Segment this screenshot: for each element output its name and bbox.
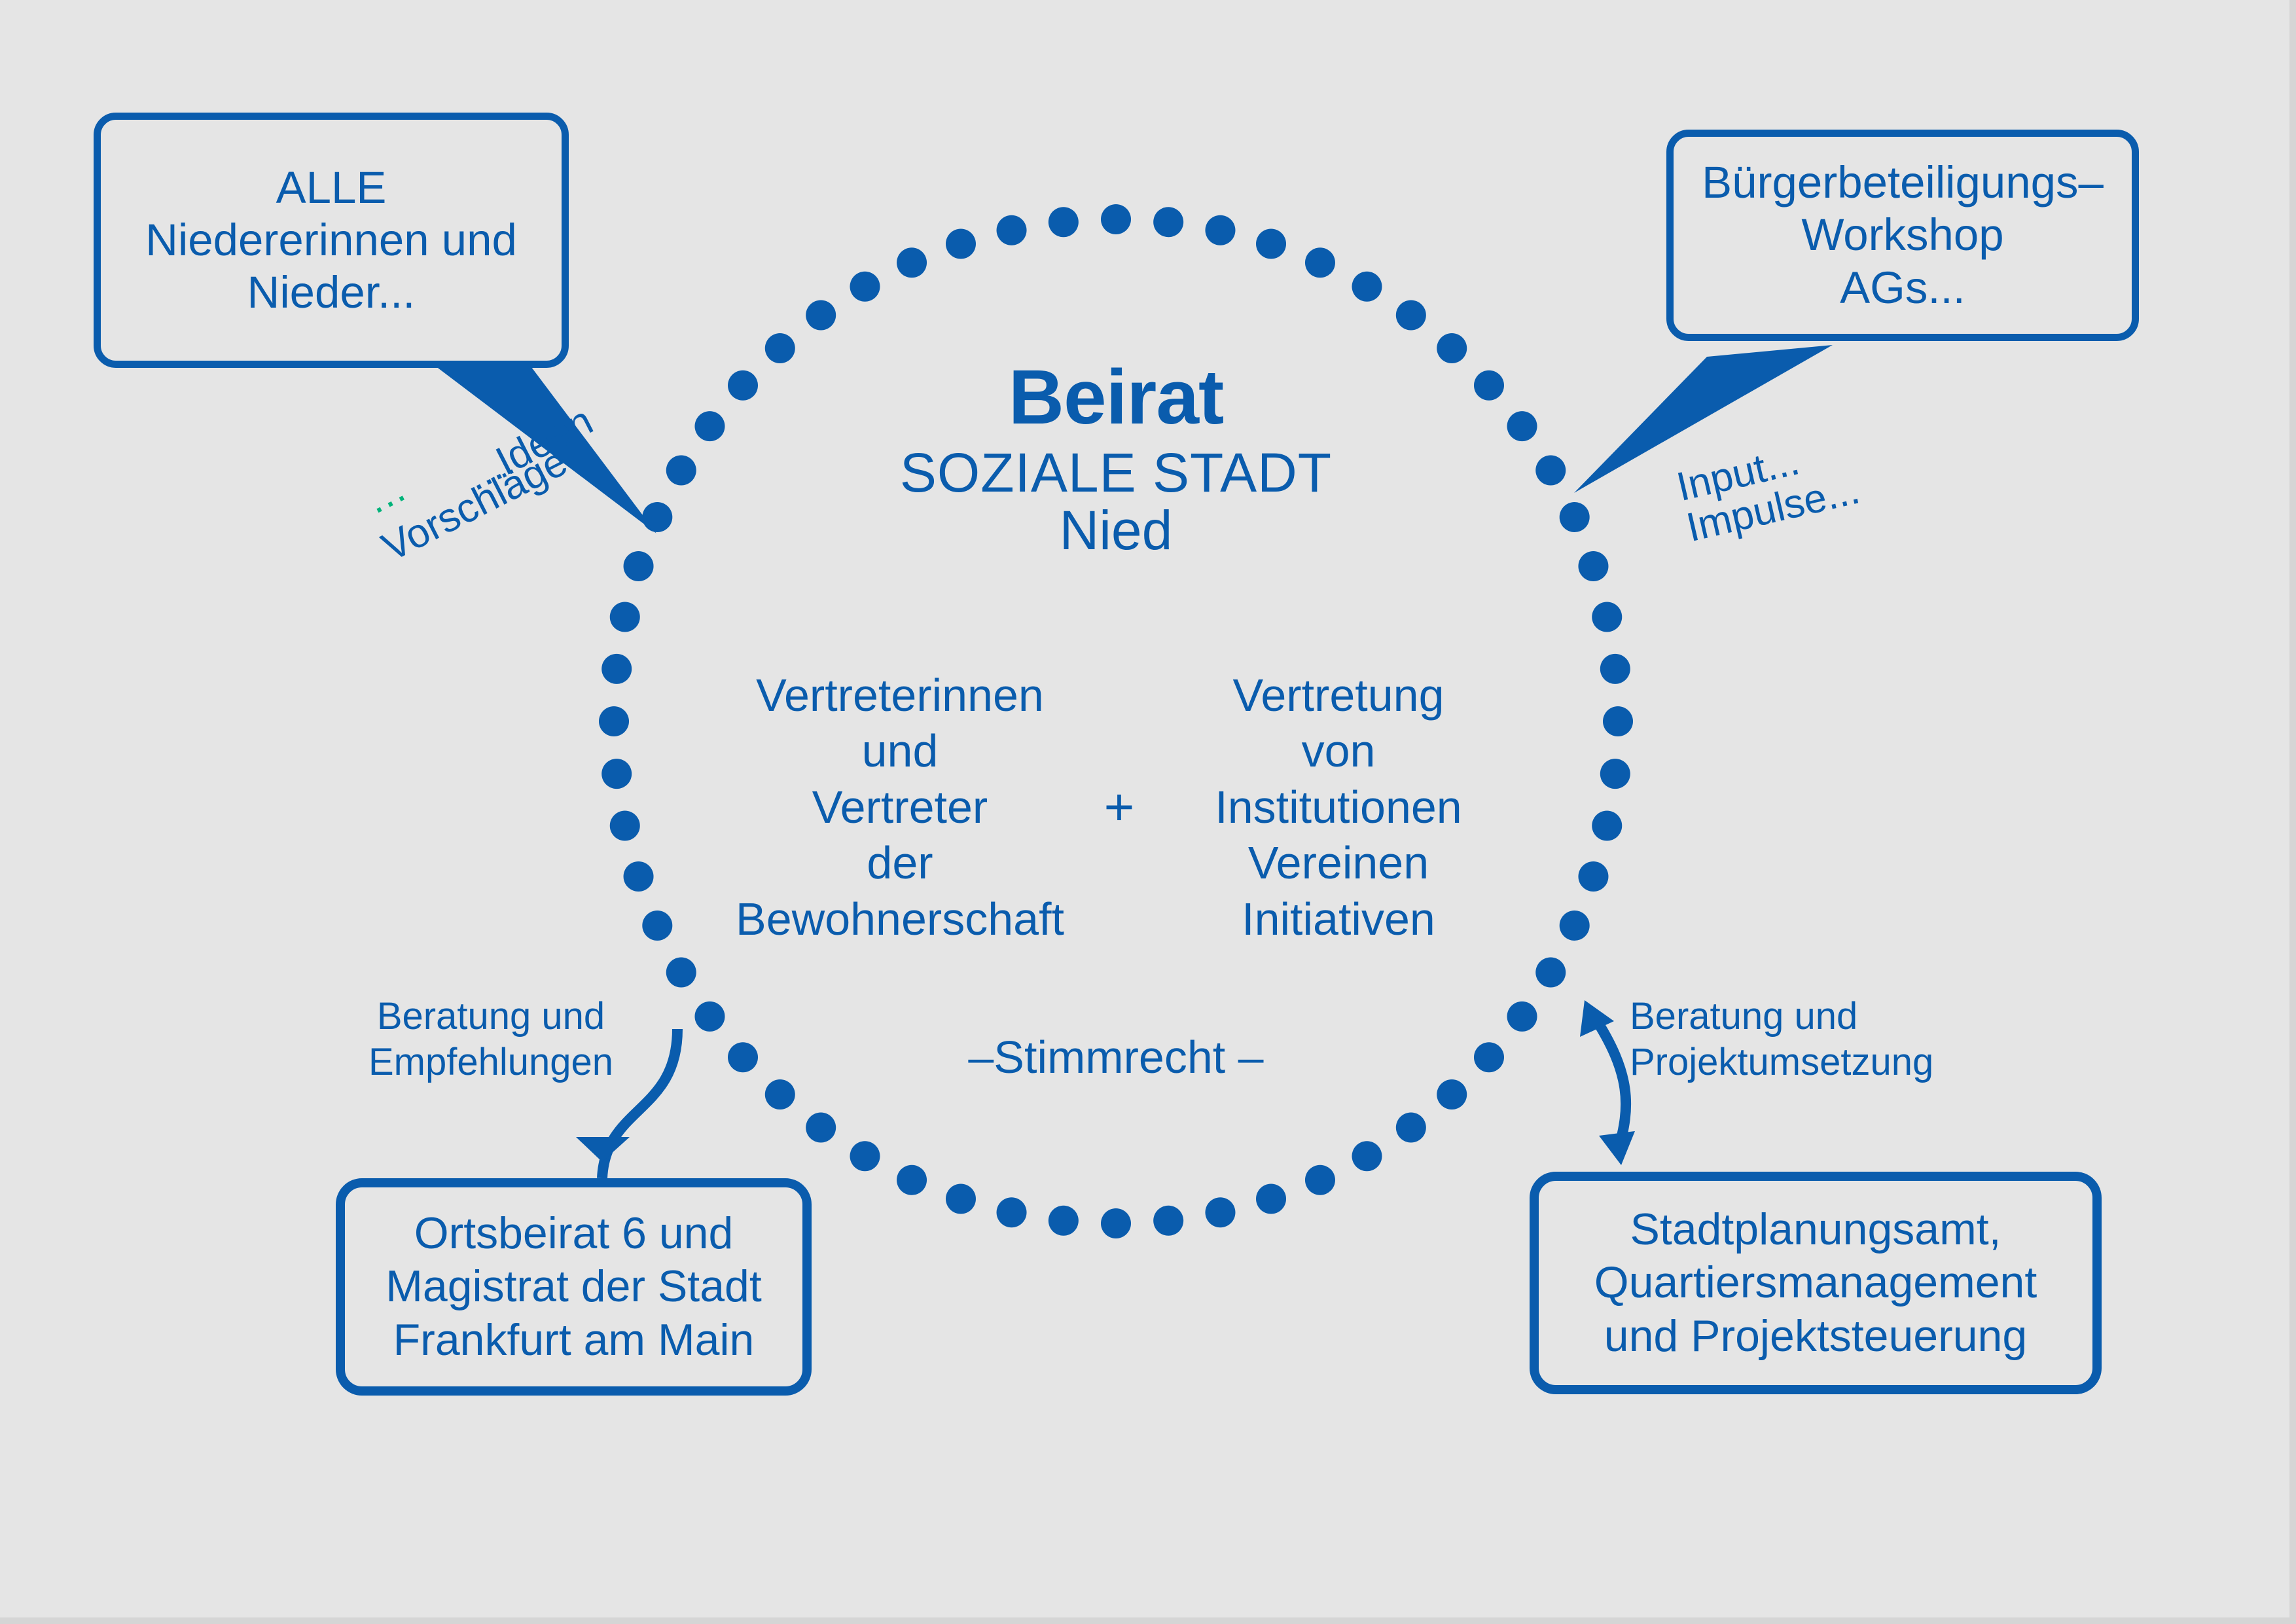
ring-dot bbox=[1153, 207, 1183, 237]
ring-dot bbox=[1437, 1079, 1467, 1110]
speech-bubble-participation-workshop-text: Bürgerbeteiligungs– Workshop AGs... bbox=[1702, 156, 2104, 314]
ring-dot bbox=[601, 654, 632, 684]
ring-dot bbox=[1153, 1206, 1183, 1236]
diagram-canvas: ALLE Niedererinnen und Nieder... Bürgerb… bbox=[0, 0, 2296, 1624]
arrow-right-head-down bbox=[1599, 1131, 1635, 1165]
council-subtitle: SOZIALE STADT bbox=[740, 445, 1492, 500]
box-stadtplanungsamt-text: Stadtplanungsamt, Quartiersmanagement un… bbox=[1594, 1203, 2037, 1363]
arrow-left-head bbox=[576, 1137, 630, 1162]
ring-dot bbox=[1535, 456, 1566, 486]
membership-institutions-line-4: Vereinen bbox=[1155, 835, 1522, 891]
speech-bubble-participation-workshop[interactable]: Bürgerbeteiligungs– Workshop AGs... bbox=[1666, 130, 2139, 341]
ring-dot bbox=[1101, 1208, 1131, 1238]
ring-dot bbox=[666, 958, 696, 988]
ring-dot bbox=[1600, 654, 1630, 684]
membership-institutions-line-5: Initiativen bbox=[1155, 892, 1522, 947]
ring-dot bbox=[1256, 229, 1286, 259]
ring-dot bbox=[946, 1183, 976, 1214]
ring-dot bbox=[1474, 1042, 1504, 1072]
label-beratung-empfehlungen: Beratung und Empfehlungen bbox=[353, 994, 628, 1085]
ring-dot bbox=[1396, 1113, 1426, 1143]
membership-columns: Vertreterinnen und Vertreter der Bewohne… bbox=[668, 668, 1571, 947]
ring-dot bbox=[1578, 551, 1608, 581]
ring-dot bbox=[624, 861, 654, 892]
ring-dot bbox=[624, 551, 654, 581]
ring-dot bbox=[1560, 502, 1590, 532]
membership-residents-line-5: Bewohnerschaft bbox=[717, 892, 1083, 947]
ring-dot bbox=[806, 1113, 836, 1143]
membership-residents-line-2: und bbox=[717, 723, 1083, 779]
ring-dot bbox=[1049, 1206, 1079, 1236]
ring-dot bbox=[1603, 706, 1633, 736]
ring-dot bbox=[1592, 602, 1622, 632]
box-ortsbeirat-magistrat-text: Ortsbeirat 6 und Magistrat der Stadt Fra… bbox=[386, 1207, 761, 1367]
box-ortsbeirat-magistrat[interactable]: Ortsbeirat 6 und Magistrat der Stadt Fra… bbox=[336, 1178, 812, 1396]
ring-dot bbox=[694, 1001, 725, 1032]
ring-dot bbox=[1101, 204, 1131, 234]
ring-dot bbox=[728, 1042, 758, 1072]
ring-dot bbox=[610, 810, 640, 840]
arrow-right-curve bbox=[1594, 1016, 1626, 1151]
council-location: Nied bbox=[740, 503, 1492, 558]
plus-icon: + bbox=[1083, 781, 1155, 833]
box-stadtplanungsamt[interactable]: Stadtplanungsamt, Quartiersmanagement un… bbox=[1530, 1172, 2102, 1394]
label-beratung-projektumsetzung: Beratung und Projektumsetzung bbox=[1630, 994, 1957, 1085]
membership-institutions-line-3: Institutionen bbox=[1155, 780, 1522, 835]
speech-bubble-all-residents-text: ALLE Niedererinnen und Nieder... bbox=[145, 162, 517, 319]
membership-residents-line-1: Vertreterinnen bbox=[717, 668, 1083, 723]
ring-dot bbox=[1507, 1001, 1537, 1032]
membership-institutions-line-2: von bbox=[1155, 723, 1522, 779]
ring-dot bbox=[1535, 958, 1566, 988]
ring-dot bbox=[850, 1141, 880, 1171]
ring-dot bbox=[1049, 207, 1079, 237]
ring-dot bbox=[1305, 1165, 1335, 1195]
speech-bubble-all-residents[interactable]: ALLE Niedererinnen und Nieder... bbox=[94, 113, 569, 368]
ring-dot bbox=[997, 215, 1027, 245]
council-title: Beirat bbox=[740, 359, 1492, 436]
voting-right-note: –Stimmrecht – bbox=[854, 1031, 1378, 1083]
ring-dot bbox=[1396, 300, 1426, 330]
ring-dot bbox=[1592, 810, 1622, 840]
ring-dot bbox=[1352, 1141, 1382, 1171]
membership-column-institutions: Vertretung von Institutionen Vereinen In… bbox=[1155, 668, 1522, 947]
ring-dot bbox=[1578, 861, 1608, 892]
ring-dot bbox=[1600, 759, 1630, 789]
ring-dot bbox=[1305, 247, 1335, 278]
council-title-block: Beirat SOZIALE STADT Nied bbox=[740, 359, 1492, 558]
ring-dot bbox=[1205, 215, 1235, 245]
ring-dot bbox=[666, 456, 696, 486]
ring-dot bbox=[946, 229, 976, 259]
ring-dot bbox=[1205, 1197, 1235, 1227]
membership-institutions-line-1: Vertretung bbox=[1155, 668, 1522, 723]
ring-dot bbox=[1352, 272, 1382, 302]
membership-residents-line-4: der bbox=[717, 835, 1083, 891]
canvas-edge-right bbox=[2289, 0, 2296, 1624]
membership-residents-line-3: Vertreter bbox=[717, 780, 1083, 835]
ring-dot bbox=[850, 272, 880, 302]
ring-dot bbox=[601, 759, 632, 789]
ring-dot bbox=[806, 300, 836, 330]
ring-dot bbox=[765, 1079, 795, 1110]
ring-dot bbox=[1256, 1183, 1286, 1214]
ring-dot bbox=[642, 502, 672, 532]
ring-dot bbox=[1507, 411, 1537, 441]
ring-dot bbox=[599, 706, 629, 736]
ring-dot bbox=[694, 411, 725, 441]
ring-dot bbox=[610, 602, 640, 632]
ring-dot bbox=[897, 247, 927, 278]
ring-dot bbox=[897, 1165, 927, 1195]
ring-dot bbox=[997, 1197, 1027, 1227]
membership-column-residents: Vertreterinnen und Vertreter der Bewohne… bbox=[717, 668, 1083, 947]
canvas-edge-bottom bbox=[0, 1617, 2296, 1624]
